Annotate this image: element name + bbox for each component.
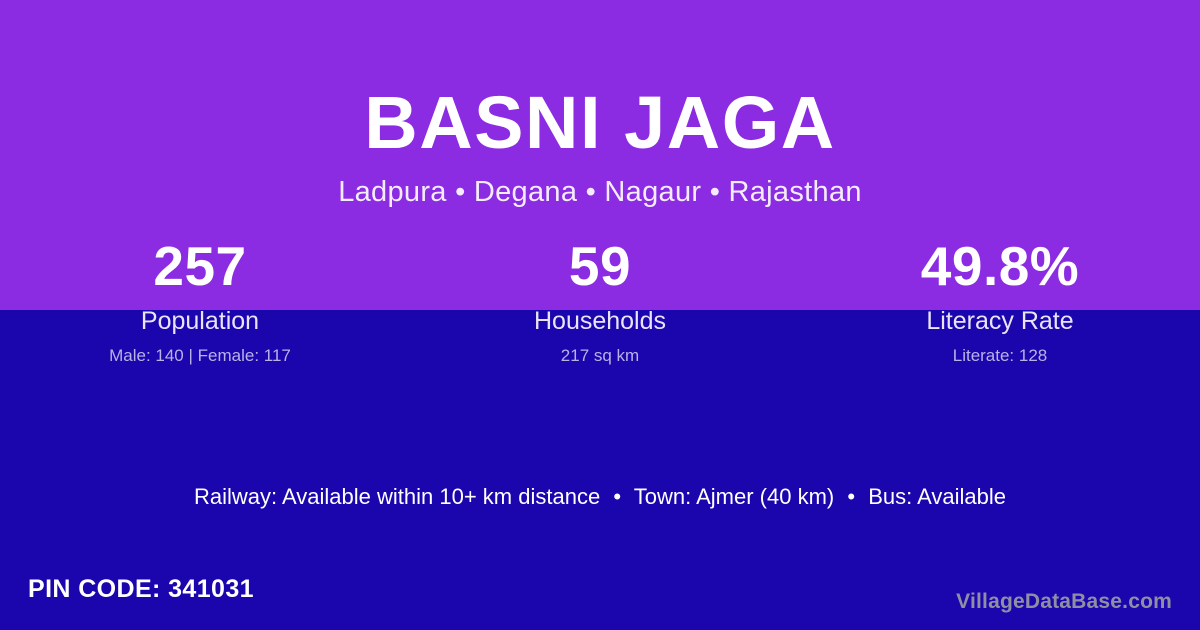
pin-code-label: PIN CODE: 341031 [28, 575, 254, 604]
stat-label: Literacy Rate [800, 308, 1200, 336]
infrastructure-line: Railway: Available within 10+ km distanc… [0, 484, 1200, 510]
village-info-card: BASNI JAGA Ladpura • Degana • Nagaur • R… [0, 0, 1200, 630]
stat-value: 49.8% [800, 238, 1200, 296]
infra-bus: Bus: Available [868, 484, 1006, 509]
stat-value: 59 [400, 238, 800, 296]
breadcrumb-location: Ladpura • Degana • Nagaur • Rajasthan [0, 176, 1200, 209]
stat-value: 257 [0, 238, 400, 296]
stat-sublabel: Male: 140 | Female: 117 [0, 347, 400, 366]
header: BASNI JAGA Ladpura • Degana • Nagaur • R… [0, 0, 1200, 209]
stat-sublabel: 217 sq km [400, 347, 800, 366]
infra-railway: Railway: Available within 10+ km distanc… [194, 484, 600, 509]
stat-label: Population [0, 308, 400, 336]
infra-town: Town: Ajmer (40 km) [634, 484, 835, 509]
stat-label: Households [400, 308, 800, 336]
page-title: BASNI JAGA [0, 84, 1200, 162]
infra-separator-icon: • [840, 484, 862, 509]
stats-row: 257 Population Male: 140 | Female: 117 5… [0, 238, 1200, 366]
stat-population: 257 Population Male: 140 | Female: 117 [0, 238, 400, 366]
site-brand-label: VillageDataBase.com [956, 590, 1172, 614]
infra-separator-icon: • [606, 484, 628, 509]
stat-households: 59 Households 217 sq km [400, 238, 800, 366]
stat-literacy-rate: 49.8% Literacy Rate Literate: 128 [800, 238, 1200, 366]
stat-sublabel: Literate: 128 [800, 347, 1200, 366]
